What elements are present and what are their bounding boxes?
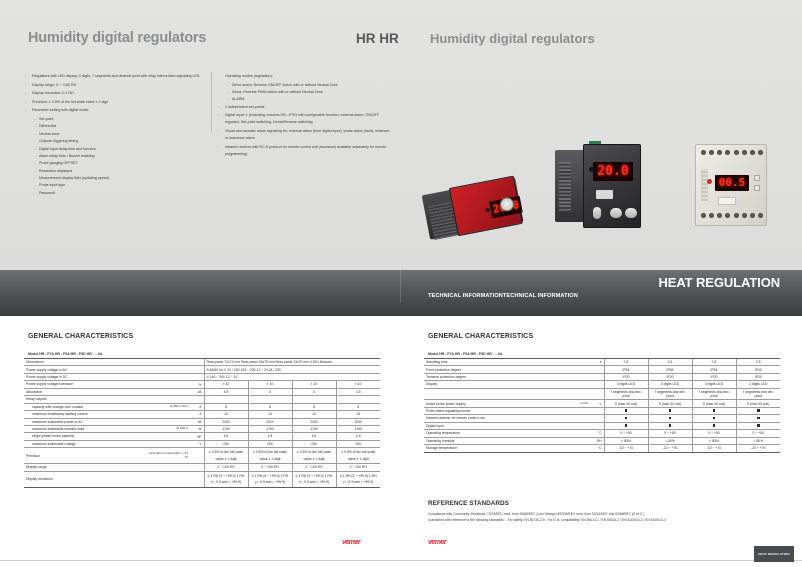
row-value: < 80% [736, 437, 780, 444]
row-value [292, 396, 336, 403]
model-line-left: Model HR - P7A HR - P3A HR - P3D HR - ..… [28, 352, 102, 356]
brand-logo-right: vemer [428, 539, 446, 546]
table-row: 7 segments and dec. point7 segments and … [424, 388, 780, 400]
row-label: Power supply voltage tolerance [24, 381, 144, 388]
table-row: capacity with change-over contactat 250 … [24, 403, 380, 410]
feature-divider [211, 72, 212, 132]
feature-text: Alarm delay time / Buzzer enabling [39, 153, 210, 160]
page-title-right: Humidity digital regulators [430, 31, 595, 46]
row-label: Operating humidity [424, 437, 544, 444]
row-value: IP54 [648, 366, 692, 373]
table-row: Operating temperature°C0 ÷ +500 ÷ +500 ÷… [424, 430, 780, 437]
row-value: 1/4 [204, 433, 248, 440]
row-value: 2000 [204, 418, 248, 425]
row-value: 0 ÷ 100 RH [248, 464, 292, 471]
row-value: IP20 [604, 373, 648, 380]
row-label: Storage temperature [424, 445, 544, 452]
feature-item: -Alarm delay time / Buzzer enabling [25, 153, 210, 160]
row-unit [590, 407, 604, 414]
section-title-left: GENERAL CHARACTERISTICS [28, 333, 133, 340]
table-row: Digital input [424, 422, 780, 429]
row-value: 1760 [248, 425, 292, 432]
table-row: Relay outputs [24, 396, 380, 403]
check-square-icon [625, 417, 628, 420]
brand-logo-left: vemer [342, 539, 360, 546]
row-condition [544, 437, 590, 444]
feature-text: Precision: ± 0.5% of the full scale valu… [32, 99, 210, 106]
row-value: -10 ÷ +70 [604, 445, 648, 452]
check-square-icon [757, 424, 760, 427]
table-row: AbsorptionVA4.5334.5 [24, 388, 380, 395]
table-row: Front protection degreeIP54IP54IP54IP40 [424, 366, 780, 373]
row-label: maximum switchable power in AC [24, 418, 144, 425]
row-value: 250 [336, 440, 380, 447]
row-value: 7 segments and dec. point [736, 388, 780, 400]
table-row: Terminal protection degreeIP20IP20IP20IP… [424, 373, 780, 380]
row-value: V 140 ÷ 300 12 ÷ 24 [204, 373, 380, 380]
product-image-panel-small: 20.0 [420, 169, 525, 246]
feature-text: Probe input type [39, 182, 210, 189]
feature-item: -Precision: ± 0.5% of the full scale val… [25, 99, 210, 106]
table-row: maximum breakaway starting currentA10101… [24, 411, 380, 418]
feature-text: Display resolution: 0.1 RH [32, 90, 210, 97]
row-label: Digital input [424, 422, 544, 429]
row-value: 1760 [204, 425, 248, 432]
row-unit: A [190, 403, 204, 410]
row-label: maximum switchable voltage [24, 440, 144, 447]
row-unit [590, 422, 604, 429]
feature-text: Direct, Reverse PWM action with or witho… [232, 89, 393, 96]
row-value: IP20 [648, 373, 692, 380]
row-value: 10 [292, 411, 336, 418]
table-row: maximum switchable power in ACVA20002000… [24, 418, 380, 425]
row-value: Rear-panel 72x72 mm Rear-panel 33x75 mm … [204, 359, 380, 366]
features-list-right: Operating modes (regulation):-Direct and… [218, 73, 393, 159]
row-value: 8 [248, 403, 292, 410]
row-value: 9 (max 30 mA) [604, 400, 648, 407]
table-row: DimensionsRear-panel 72x72 mm Rear-panel… [24, 359, 380, 366]
row-condition [144, 471, 190, 487]
row-condition [544, 445, 590, 452]
reference-line-2: is declared with reference to the follow… [428, 517, 778, 523]
row-label: maximum switchable resistive load [24, 425, 144, 432]
row-value: 7 segments and dec. point [648, 388, 692, 400]
row-value [248, 396, 292, 403]
row-label: Probe alarm signalling buzzer [424, 407, 544, 414]
row-label: capacity with change-over contact [24, 403, 144, 410]
feature-item: -Regulators with LED display, 3 digits, … [25, 73, 210, 80]
header-band: Humidity digital regulators HR HR Humidi… [0, 0, 802, 270]
row-label: Power supply voltage in AC [24, 366, 144, 373]
row-unit: V [590, 400, 604, 407]
section-title-right: GENERAL CHARACTERISTICS [428, 333, 533, 340]
row-label: Front protection degree [424, 366, 544, 373]
row-label: Operating temperature [424, 430, 544, 437]
row-unit: W [190, 425, 204, 432]
feature-text: Operating modes (regulation): [225, 73, 393, 80]
model-line-right: Model HR - P7A HR - P3A HR - P3D HR - ..… [428, 352, 502, 356]
row-value: 7 segments and dec. point [604, 388, 648, 400]
row-value [736, 407, 780, 414]
row-value: 3 [248, 388, 292, 395]
feature-item: -2 independent set-points [218, 104, 393, 111]
row-condition [144, 418, 190, 425]
feature-item: -Probe input type [25, 182, 210, 189]
row-value: -10 ÷ +70 [648, 445, 692, 452]
product-image-panel-square: 20.0 [555, 144, 641, 228]
row-unit: °C [590, 445, 604, 452]
table-row: Display3 digits LED3 digits LED3 digits … [424, 381, 780, 388]
product-images: 20.0 20.0 00.5 [395, 140, 795, 270]
table-row: Operating humidityRH< 80%< 80%< 80%< 80% [424, 437, 780, 444]
product-image-din-modular: 00.5 [695, 144, 767, 226]
row-unit [590, 366, 604, 373]
row-value [648, 415, 692, 422]
row-value: 10 [336, 411, 380, 418]
row-value: ± 10 [292, 381, 336, 388]
row-value: 0.5 [648, 359, 692, 366]
check-square-icon [669, 424, 672, 427]
feature-item: -Neutral zone [25, 131, 210, 138]
bullet-marker: - [218, 128, 225, 142]
row-value: IP54 [604, 366, 648, 373]
row-value: ± 10 [248, 381, 292, 388]
bullet-marker: - [25, 73, 32, 80]
feature-text: Outputs triggering timing [39, 138, 210, 145]
row-value: 8 [336, 403, 380, 410]
row-value [648, 422, 692, 429]
table-row: Power supply voltage in DCV 140 ÷ 300 12… [24, 373, 380, 380]
feature-item: Operating modes (regulation): [218, 73, 393, 80]
row-unit: RH [590, 437, 604, 444]
footer-divider [0, 560, 802, 561]
row-value: 7 segments and dec. point [692, 388, 736, 400]
bullet-marker: - [25, 107, 32, 114]
row-condition [144, 433, 190, 440]
row-value: 0.1 RH (0 ÷ +99.9) 1 RH (< -9.9 and > +9… [336, 471, 380, 487]
row-label: Precision [24, 448, 144, 464]
row-unit: % [190, 381, 204, 388]
row-label: single-phase motor capacity [24, 433, 144, 440]
bullet-marker: - [25, 90, 32, 97]
row-value: 250 [204, 440, 248, 447]
reference-standards-title: REFERENCE STANDARDS [428, 500, 509, 507]
feature-item: -Infrared receiver with RC-5 protocol fo… [218, 144, 393, 158]
feature-text: Display range: 0 ÷ +100 RH [32, 82, 210, 89]
row-value: 250 [292, 440, 336, 447]
check-square-icon [669, 409, 672, 412]
feature-text: Digital input delay time and function [39, 146, 210, 153]
check-square-icon [625, 424, 628, 427]
feature-item: -Display range: 0 ÷ +100 RH [25, 82, 210, 89]
row-value: 2000 [292, 418, 336, 425]
feature-item: -Visual and acoustic alarm signalling fo… [218, 128, 393, 142]
display-reading-2: 20.0 [593, 162, 633, 181]
bullet-marker: - [218, 112, 225, 126]
row-value: 0 ÷ 100 RH [336, 464, 380, 471]
row-label: Active probe power supply [424, 400, 544, 407]
feature-text: 2 independent set-points [225, 104, 393, 111]
table-row: Display range0 ÷ 100 RH0 ÷ 100 RH0 ÷ 100… [24, 464, 380, 471]
row-unit [190, 448, 204, 464]
table-row: single-phase motor capacityHP1/41/41/41/… [24, 433, 380, 440]
feature-text: Differential [39, 123, 210, 130]
row-unit: °C [590, 430, 604, 437]
row-value: 3 digits LED [604, 381, 648, 388]
table-row: maximum switchable voltageV250250250250 [24, 440, 380, 447]
row-value: A 50/60 Hz V 24 / 230 100 ÷ 230 12 ÷ 24 … [204, 366, 380, 373]
row-value: < 80% [648, 437, 692, 444]
row-value: 3 [292, 388, 336, 395]
row-value: 4.5 [204, 388, 248, 395]
row-label: Relay outputs [24, 396, 144, 403]
row-value: 2000 [336, 418, 380, 425]
row-value: ± 0.5% of the full scale value ± 1 digit [336, 448, 380, 464]
row-value: 0 ÷ 100 RH [204, 464, 248, 471]
row-unit: A [190, 411, 204, 418]
row-value: < 80% [604, 437, 648, 444]
feature-text: Probe gauging OFFSET [39, 160, 210, 167]
row-condition [144, 440, 190, 447]
feature-text: ALARM [232, 96, 393, 103]
row-unit [190, 359, 204, 366]
row-value [736, 415, 780, 422]
row-value [336, 396, 380, 403]
feature-text: Visual and acoustic alarm signalling for… [225, 128, 393, 142]
check-square-icon [713, 417, 716, 420]
row-label: Terminal protection degree [424, 373, 544, 380]
feature-item: -Display resolution: 0.1 RH [25, 90, 210, 97]
row-condition [144, 381, 190, 388]
row-condition [544, 415, 590, 422]
row-condition [544, 430, 590, 437]
row-unit [190, 464, 204, 471]
check-square-icon [625, 409, 628, 412]
check-square-icon [757, 409, 760, 412]
row-condition [544, 381, 590, 388]
feature-item: -Differential [25, 123, 210, 130]
row-condition [544, 422, 590, 429]
row-condition [144, 359, 190, 366]
feature-item: -Parameter setting with digital mode: [25, 107, 210, 114]
row-value: 8 [292, 403, 336, 410]
feature-item: -Password [25, 190, 210, 197]
row-condition [144, 388, 190, 395]
row-condition [144, 464, 190, 471]
row-value [604, 415, 648, 422]
row-label: Display resolution [24, 471, 144, 487]
row-value: IP54 [692, 366, 736, 373]
row-unit [190, 366, 204, 373]
row-unit: V [190, 440, 204, 447]
row-value: ± 10 [336, 381, 380, 388]
table-row: maximum switchable resistive loadat 230 … [24, 425, 380, 432]
row-value [692, 422, 736, 429]
row-value: -10 ÷ +70 [692, 445, 736, 452]
row-label: Infrared receiver for remote control uni… [424, 415, 544, 422]
feature-text: Direct and/or Reverse ON/OFF action with… [232, 82, 393, 89]
feature-text: Infrared receiver with RC-5 protocol for… [225, 144, 393, 158]
row-unit [590, 373, 604, 380]
row-condition: at 250 V AC1 [144, 403, 190, 410]
feature-text: Neutral zone [39, 131, 210, 138]
feature-item: -Digital input: 1 (excluding versions HR… [218, 112, 393, 126]
row-value: 250 [248, 440, 292, 447]
row-condition [544, 407, 590, 414]
row-value: IP20 [736, 373, 780, 380]
row-value: 10 [248, 411, 292, 418]
row-value: 0 ÷ +50 [736, 430, 780, 437]
row-unit [590, 388, 604, 400]
general-characteristics-table-left: DimensionsRear-panel 72x72 mm Rear-panel… [24, 358, 380, 488]
row-value: 1/4 [248, 433, 292, 440]
row-value [692, 407, 736, 414]
row-unit [190, 471, 204, 487]
row-value: 1760 [292, 425, 336, 432]
row-value: 1/4 [336, 433, 380, 440]
reference-standards-body: Compliance with Community Directives: 73… [428, 511, 778, 523]
table-row: Power supply voltage in ACA 50/60 Hz V 2… [24, 366, 380, 373]
features-list-left: -Regulators with LED display, 3 digits, … [25, 73, 210, 197]
row-value: 0.5 [692, 359, 736, 366]
row-condition [144, 373, 190, 380]
page-footer-tab: HEAT REGULATION [754, 546, 794, 562]
row-unit [590, 415, 604, 422]
row-value: -10 ÷ +70 [736, 445, 780, 452]
bullet-marker: - [25, 82, 32, 89]
check-square-icon [713, 424, 716, 427]
row-condition [144, 366, 190, 373]
row-label: Sampling time [424, 359, 544, 366]
row-value: 3 digits LED [648, 381, 692, 388]
feature-text: Parameter setting with digital mode: [32, 107, 210, 114]
row-value: 3 digits LED [692, 381, 736, 388]
row-value: 0 ÷ +50 [604, 430, 648, 437]
feature-item: -Direct and/or Reverse ON/OFF action wit… [218, 82, 393, 89]
row-value: ± 0.5% of the full scale value ± 1 digit [292, 448, 336, 464]
row-unit: VA [190, 388, 204, 395]
row-label: Power supply voltage in DC [24, 373, 144, 380]
check-square-icon [713, 409, 716, 412]
row-unit: s [590, 359, 604, 366]
row-unit [190, 396, 204, 403]
row-label: Absorption [24, 388, 144, 395]
row-value [604, 422, 648, 429]
table-row: Sampling times0.50.50.50.5 [424, 359, 780, 366]
row-condition [544, 373, 590, 380]
row-label: maximum breakaway starting current [24, 411, 144, 418]
row-value: 9 (max 30 mA) [692, 400, 736, 407]
row-value: 9 (max 30 mA) [736, 400, 780, 407]
row-unit [190, 373, 204, 380]
row-value: ± 0.5% of the full scale value ± 1 digit [204, 448, 248, 464]
row-condition [544, 359, 590, 366]
feature-item: -Direct, Reverse PWM action with or with… [218, 89, 393, 96]
table-row: Active probe power supplyin DCV9 (max 30… [424, 400, 780, 407]
feature-item: -Outputs triggering timing [25, 138, 210, 145]
table-row: Power supply voltage tolerance%± 10± 10±… [24, 381, 380, 388]
row-value [648, 407, 692, 414]
feature-text: Digital input: 1 (excluding versions HR-… [225, 112, 393, 126]
feature-item: -Set-point [25, 116, 210, 123]
row-label: Display range [24, 464, 144, 471]
feature-text: Regulators with LED display, 3 digits, 7… [32, 73, 210, 80]
row-value: IP20 [692, 373, 736, 380]
page-title-left: Humidity digital regulators [28, 30, 206, 46]
row-value: ± 0.5% of the full scale value ± 1 digit [248, 448, 292, 464]
table-row: Storage temperature°C-10 ÷ +70-10 ÷ +70-… [424, 445, 780, 452]
table-row: Infrared receiver for remote control uni… [424, 415, 780, 422]
row-value: 0 ÷ +50 [648, 430, 692, 437]
row-value [736, 422, 780, 429]
row-value: 0.1 RH (0 ÷ +99.9) 1 RH (< -9.9 and > +9… [292, 471, 336, 487]
row-value: 0.1 RH (0 ÷ +99.9) 1 RH (< -9.9 and > +9… [248, 471, 292, 487]
row-value: 0 ÷ +50 [692, 430, 736, 437]
row-value: 8 [204, 403, 248, 410]
row-unit: HP [190, 433, 204, 440]
row-value [604, 407, 648, 414]
row-value: IP40 [736, 366, 780, 373]
display-reading-3: 00.5 [715, 175, 749, 191]
heat-regulation-label: HEAT REGULATION [658, 275, 780, 290]
product-code: HR HR [356, 31, 399, 46]
datasheet-page: Humidity digital regulators HR HR Humidi… [0, 0, 802, 567]
row-condition: in DC [544, 400, 590, 407]
technical-information-label: TECHNICAL INFORMATIONTECHNICAL INFORMATI… [428, 293, 578, 299]
feature-text: Resolution displayed [39, 168, 210, 175]
table-row: Display resolution0.1 RH (0 ÷ +99.9) 1 R… [24, 471, 380, 487]
feature-text: Set-point [39, 116, 210, 123]
row-value: 0.1 RH (0 ÷ +99.9) 1 RH (< -9.9 and > +9… [204, 471, 248, 487]
bullet-marker: - [218, 104, 225, 111]
feature-item: -Measurement display filter (updating sp… [25, 175, 210, 182]
bullet-marker: - [218, 144, 225, 158]
bullet-marker: - [25, 99, 32, 106]
row-unit: VA [190, 418, 204, 425]
row-condition: at ambient temperature = 23 °C [144, 448, 190, 464]
row-condition [544, 388, 590, 400]
row-condition: at 230 V [144, 425, 190, 432]
feature-item: -ALARM [218, 96, 393, 103]
row-value: 3 digits LED [736, 381, 780, 388]
feature-item: -Probe gauging OFFSET [25, 160, 210, 167]
row-label [424, 388, 544, 400]
row-value: 2000 [248, 418, 292, 425]
check-square-icon [757, 417, 760, 420]
row-value: < 80% [692, 437, 736, 444]
row-value: 0.5 [604, 359, 648, 366]
general-characteristics-table-right: Sampling times0.50.50.50.5Front protecti… [424, 358, 780, 453]
row-label: Dimensions [24, 359, 144, 366]
row-value: 0 ÷ 100 RH [292, 464, 336, 471]
table-row: Probe alarm signalling buzzer [424, 407, 780, 414]
feature-text: Measurement display filter (updating spe… [39, 175, 210, 182]
row-value: 0.5 [736, 359, 780, 366]
feature-item: -Resolution displayed [25, 168, 210, 175]
row-condition [144, 411, 190, 418]
row-value [692, 415, 736, 422]
row-value: 9 (max 30 mA) [648, 400, 692, 407]
row-condition [544, 366, 590, 373]
row-value: ± 10 [204, 381, 248, 388]
row-value: 1760 [336, 425, 380, 432]
row-value: 1/4 [292, 433, 336, 440]
row-label: Display [424, 381, 544, 388]
row-value [204, 396, 248, 403]
row-value: 4.5 [336, 388, 380, 395]
row-value: 10 [204, 411, 248, 418]
row-unit [590, 381, 604, 388]
